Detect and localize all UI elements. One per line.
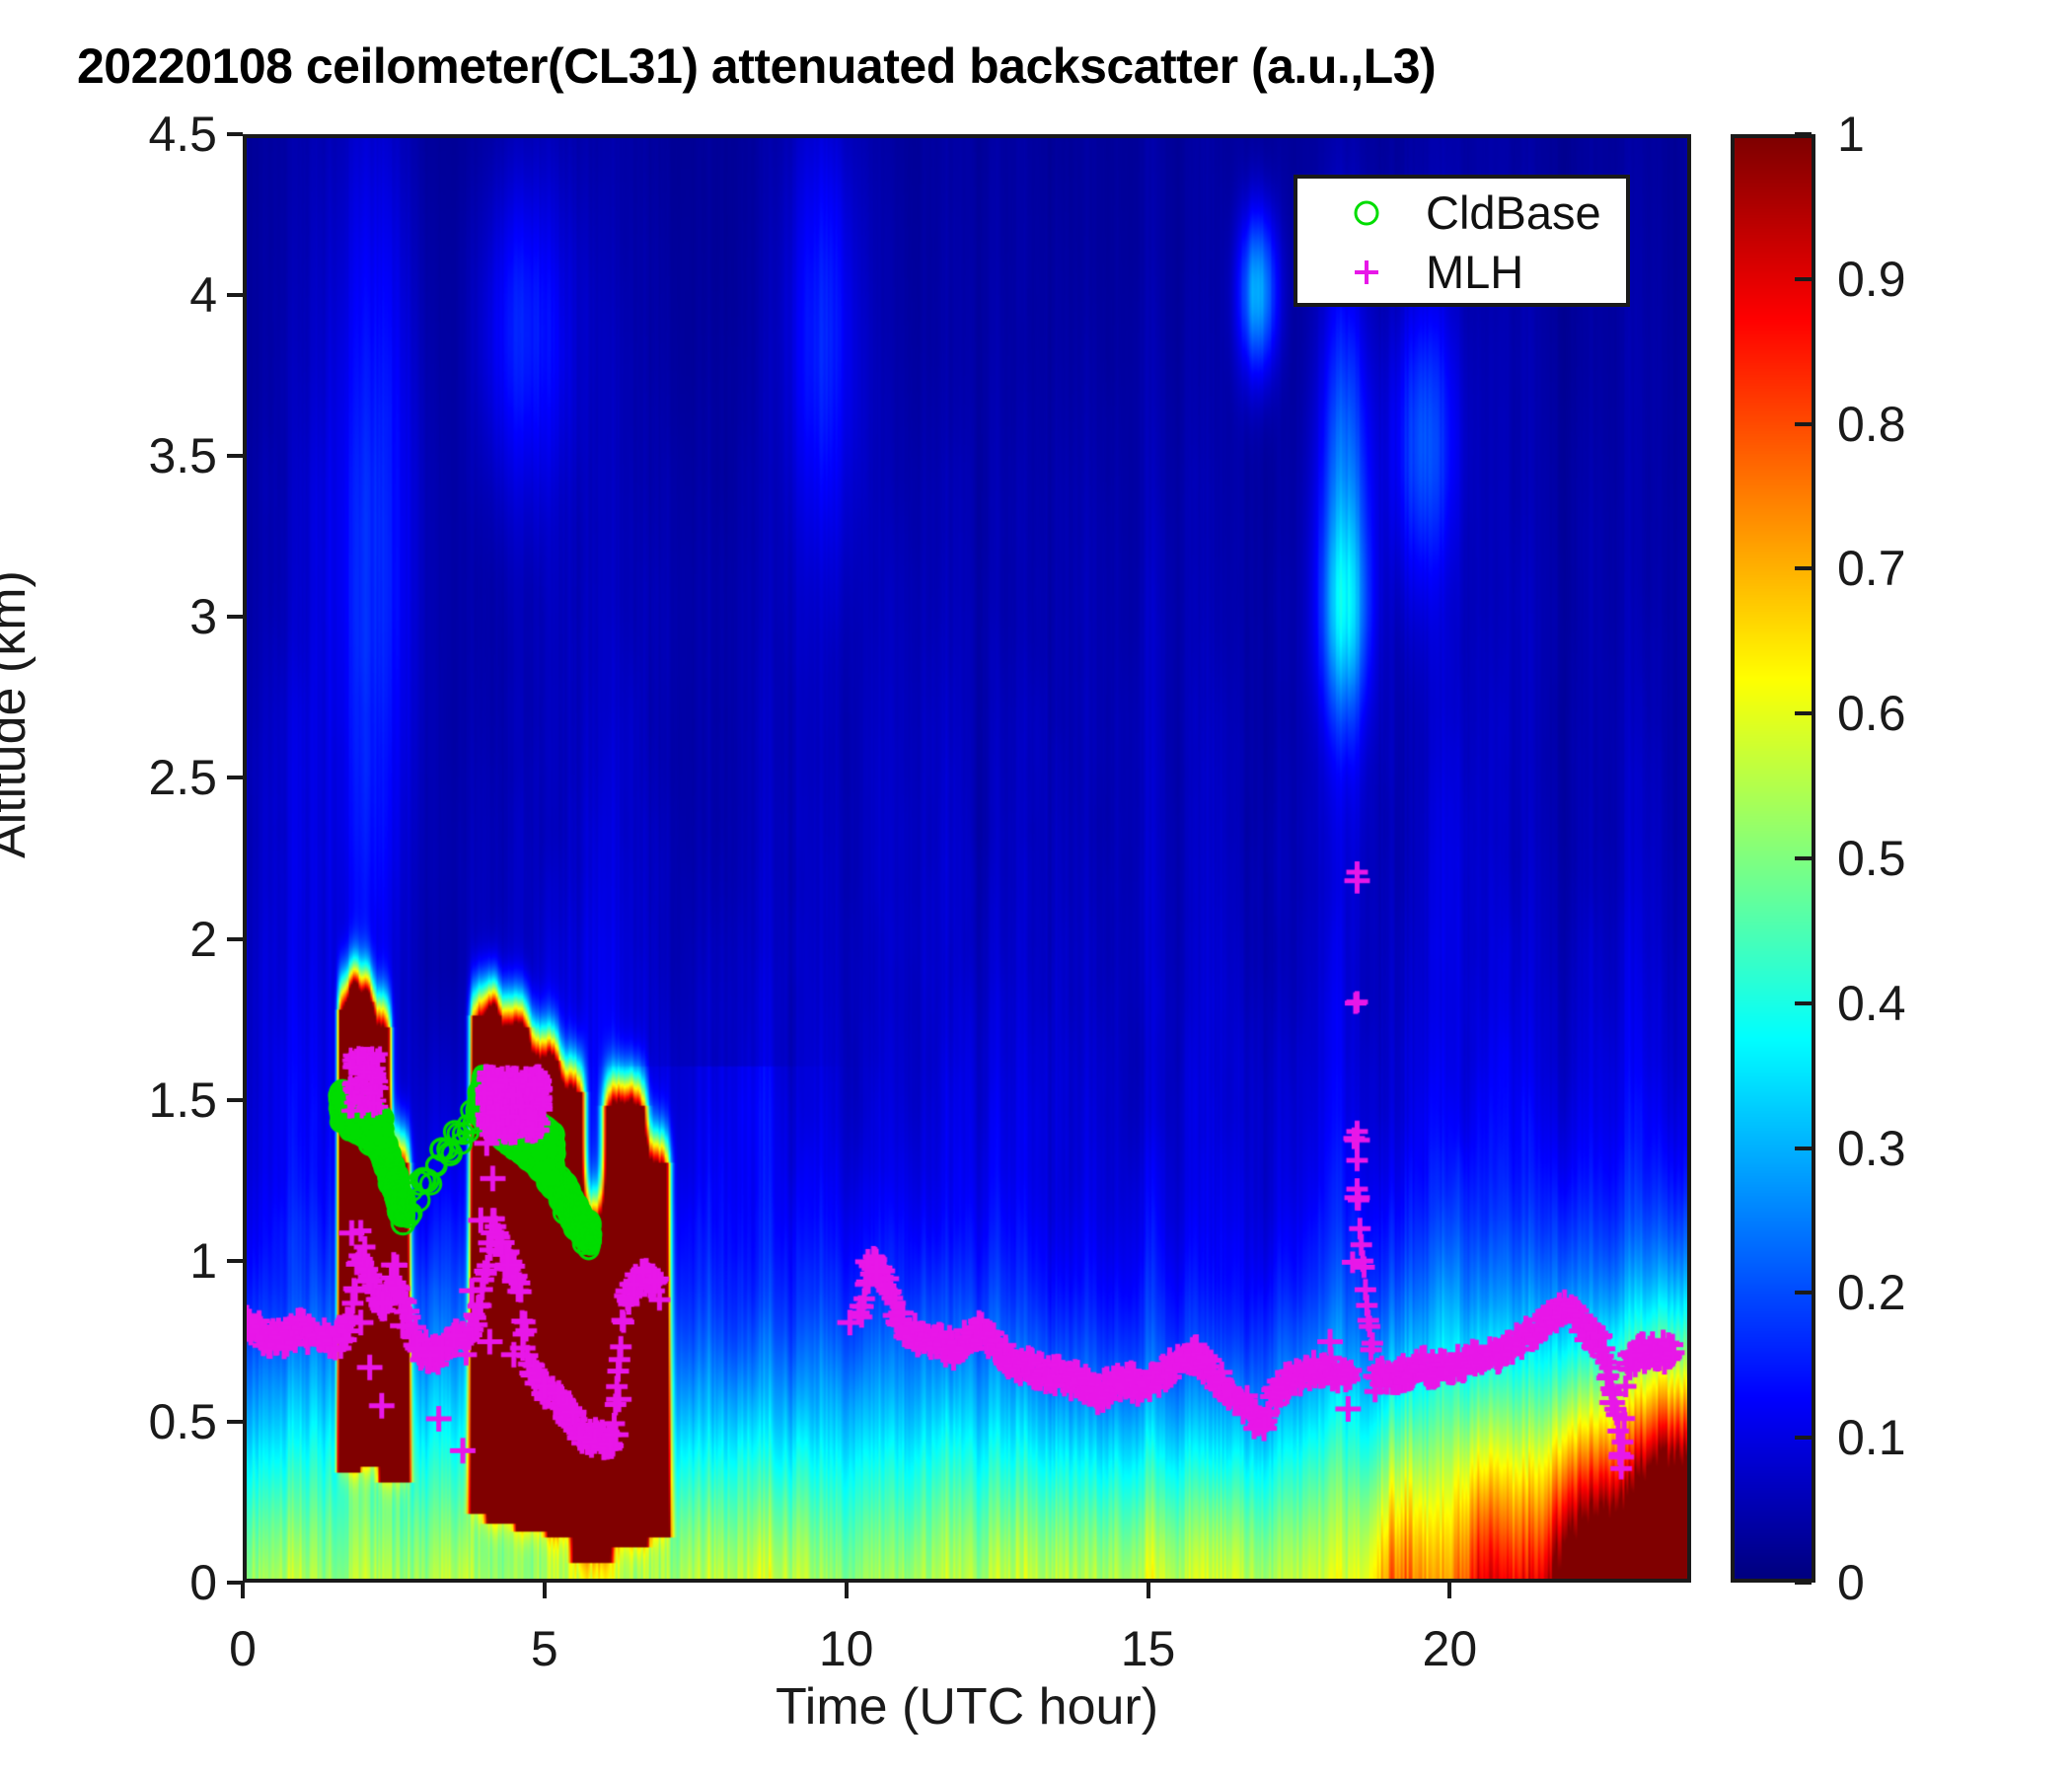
x-tick-label: 0 [229, 1620, 257, 1677]
colorbar-tick-mark [1795, 1581, 1812, 1585]
x-tick-label: 10 [819, 1620, 874, 1677]
x-tick-mark [1447, 1583, 1451, 1598]
legend-label-mlh: MLH [1426, 244, 1523, 301]
colorbar-tick-label: 0 [1837, 1554, 1865, 1611]
y-tick-mark [227, 1420, 243, 1424]
y-tick-mark [227, 293, 243, 297]
colorbar-tick-label: 0.5 [1837, 830, 1906, 887]
y-tick-mark [227, 454, 243, 458]
colorbar-tick-label: 0.1 [1837, 1409, 1906, 1466]
x-tick-mark [543, 1583, 547, 1598]
plus-marker-icon [1345, 244, 1388, 301]
y-tick-label: 3 [39, 588, 217, 645]
y-tick-label: 2 [39, 911, 217, 968]
y-tick-label: 4 [39, 266, 217, 324]
legend-item-mlh: MLH [1297, 244, 1626, 301]
y-tick-mark [227, 1098, 243, 1102]
colorbar-tick-label: 0.7 [1837, 540, 1906, 597]
colorbar-tick-label: 0.9 [1837, 251, 1906, 308]
colorbar-tick-mark [1795, 132, 1812, 136]
x-tick-label: 15 [1121, 1620, 1176, 1677]
y-tick-label: 1 [39, 1232, 217, 1290]
legend-label-cldbase: CldBase [1426, 185, 1601, 242]
circle-marker-icon [1345, 185, 1388, 242]
colorbar-tick-mark [1795, 422, 1812, 426]
x-tick-label: 5 [531, 1620, 558, 1677]
colorbar-tick-mark [1795, 277, 1812, 281]
colorbar-tick-label: 0.4 [1837, 975, 1906, 1032]
colorbar-tick-label: 0.3 [1837, 1120, 1906, 1177]
colorbar-tick-mark [1795, 856, 1812, 860]
figure-title: 20220108 ceilometer(CL31) attenuated bac… [77, 37, 1436, 95]
y-tick-label: 0.5 [39, 1393, 217, 1450]
colorbar-tick-mark [1795, 1001, 1812, 1005]
colorbar-tick-label: 0.2 [1837, 1264, 1906, 1321]
y-axis-label: Altitude (km) [0, 570, 37, 858]
y-tick-mark [227, 615, 243, 619]
y-tick-label: 0 [39, 1554, 217, 1611]
marker-overlay [247, 138, 1687, 1579]
y-tick-label: 3.5 [39, 427, 217, 484]
x-axis-label: Time (UTC hour) [776, 1677, 1158, 1737]
y-tick-mark [227, 132, 243, 136]
x-tick-mark [845, 1583, 849, 1598]
y-tick-label: 4.5 [39, 106, 217, 163]
colorbar-tick-mark [1795, 1291, 1812, 1295]
colorbar-tick-label: 1 [1837, 106, 1865, 163]
y-tick-mark [227, 776, 243, 779]
colorbar-tick-mark [1795, 711, 1812, 715]
legend-item-cldbase: CldBase [1297, 185, 1626, 242]
colorbar-tick-label: 0.6 [1837, 685, 1906, 742]
colorbar-tick-mark [1795, 566, 1812, 570]
y-tick-label: 2.5 [39, 749, 217, 806]
y-tick-mark [227, 937, 243, 941]
y-tick-mark [227, 1259, 243, 1263]
heatmap-axes [243, 134, 1691, 1583]
colorbar-tick-label: 0.8 [1837, 396, 1906, 453]
x-tick-label: 20 [1423, 1620, 1478, 1677]
y-tick-label: 1.5 [39, 1072, 217, 1129]
legend-box: CldBase MLH [1294, 175, 1630, 307]
colorbar-tick-mark [1795, 1147, 1812, 1150]
x-tick-mark [241, 1583, 245, 1598]
colorbar-tick-mark [1795, 1436, 1812, 1440]
figure-canvas: 20220108 ceilometer(CL31) attenuated bac… [0, 0, 2072, 1776]
x-tick-mark [1147, 1583, 1150, 1598]
